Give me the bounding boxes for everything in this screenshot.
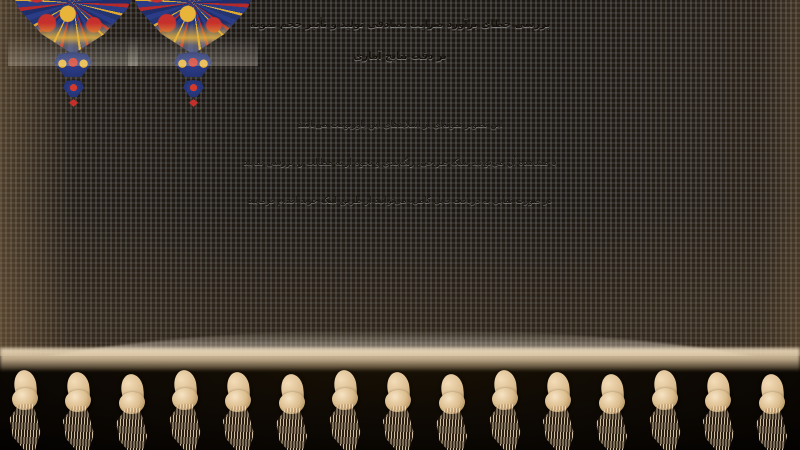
tassel-brush [435, 408, 469, 450]
fringe-tassel [324, 352, 368, 450]
tassel-brush [648, 404, 682, 450]
tassel-brush [275, 408, 309, 450]
fringe-tassel [591, 356, 635, 450]
fringe-tassel [164, 352, 208, 450]
tassel-brush [8, 404, 42, 450]
slide-body-text: این تصویر نمونه‌ای از اسلایدهای این پاور… [30, 106, 770, 220]
fringe-tassel [217, 354, 261, 450]
tassel-brush [488, 404, 522, 450]
fringe-tassel [271, 356, 315, 450]
tassel-brush [755, 408, 789, 450]
tassel-brush [541, 406, 575, 450]
fringe-tassel [431, 356, 475, 450]
fringe-tassel [4, 352, 48, 450]
tassel-brush [168, 404, 202, 450]
slide-title: بررسی خطای برآورد ضرایب تصادفی تولید و ت… [60, 9, 740, 73]
tassel-brush [595, 408, 629, 450]
fringe-tassel [377, 354, 421, 450]
tassel-brush [701, 406, 735, 450]
carpet-fringe [0, 340, 800, 450]
tassel-brush [221, 406, 255, 450]
slide-body-line-2: با مشاهده آن می‌توانید سبک طراحی، رنگ‌بن… [30, 144, 770, 182]
tassel-brush [381, 406, 415, 450]
slide-title-line-1: بررسی خطای برآورد ضرایب تصادفی تولید و ت… [60, 9, 740, 41]
tassel-brush [328, 404, 362, 450]
fringe-tassel [644, 352, 688, 450]
fringe-tassel [111, 356, 155, 450]
slide-body-line-1: این تصویر نمونه‌ای از اسلایدهای این پاور… [30, 106, 770, 144]
fringe-tassel [751, 356, 795, 450]
fringe-tassel [484, 352, 528, 450]
slide-canvas: بررسی خطای برآورد ضرایب تصادفی تولید و ت… [0, 0, 800, 450]
fringe-tassel [537, 354, 581, 450]
slide-body-line-3: در صورت تمایل به دریافت فایل کامل، می‌تو… [30, 182, 770, 220]
slide-text-area: بررسی خطای برآورد ضرایب تصادفی تولید و ت… [0, 0, 800, 374]
fringe-tassel [57, 354, 101, 450]
tassel-brush [61, 406, 95, 450]
tassel-brush [115, 408, 149, 450]
slide-title-line-2: بر دقت نتایج آماری [60, 41, 740, 73]
fringe-tassel [697, 354, 741, 450]
